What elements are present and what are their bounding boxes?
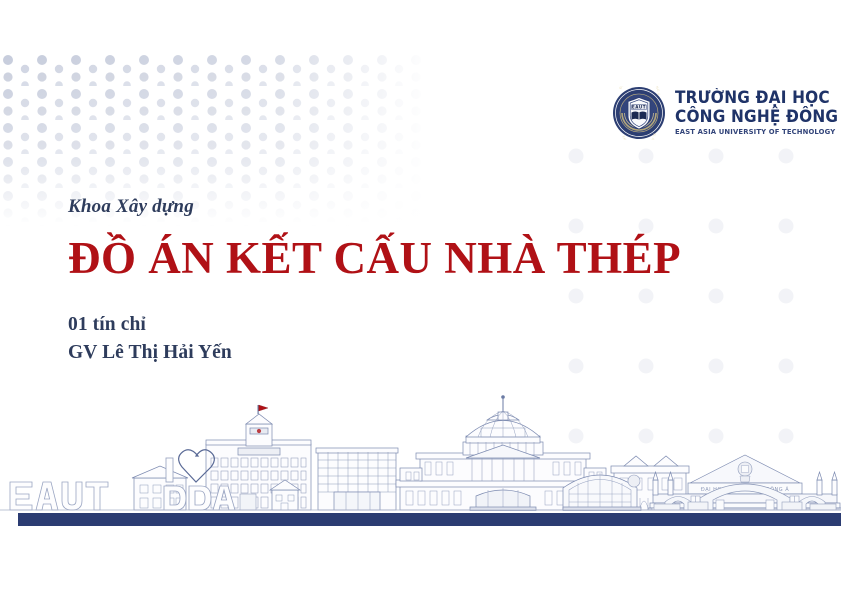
footer-accent-bar — [18, 513, 841, 526]
university-name-line2: CÔNG NGHỆ ĐÔNG Á — [675, 109, 841, 126]
svg-text:ĐẠI HỌC CÔNG NGHỆ ĐÔNG Á: ĐẠI HỌC CÔNG NGHỆ ĐÔNG Á — [701, 485, 789, 493]
title-text-block: Khoa Xây dựng ĐỒ ÁN KẾT CẤU NHÀ THÉP 01 … — [68, 196, 728, 367]
eaut-seal-icon: EAUT ĐẠI HỌC CÔNG NGHỆ ĐÔNG Á EAST ASIA … — [612, 86, 666, 140]
instructor-label: GV Lê Thị Hải Yến — [68, 339, 728, 367]
credits-label: 01 tín chỉ — [68, 311, 728, 339]
title-slide: EAUT ĐẠI HỌC CÔNG NGHỆ ĐÔNG Á EAST ASIA … — [0, 0, 841, 595]
svg-text:EAUT: EAUT — [632, 105, 646, 110]
page-title: ĐỒ ÁN KẾT CẤU NHÀ THÉP — [68, 234, 728, 283]
campus-skyline-illustration: ĐẠI HỌC CÔNG NGHỆ ĐÔNG Á — [0, 390, 841, 515]
university-name-line1: TRƯỜNG ĐẠI HỌC — [675, 90, 841, 107]
university-logo: EAUT ĐẠI HỌC CÔNG NGHỆ ĐÔNG Á EAST ASIA … — [612, 82, 812, 144]
university-logo-text: TRƯỜNG ĐẠI HỌC CÔNG NGHỆ ĐÔNG Á EAST ASI… — [675, 90, 841, 135]
faculty-name: Khoa Xây dựng — [68, 196, 728, 218]
university-name-english: EAST ASIA UNIVERSITY OF TECHNOLOGY — [675, 128, 841, 135]
